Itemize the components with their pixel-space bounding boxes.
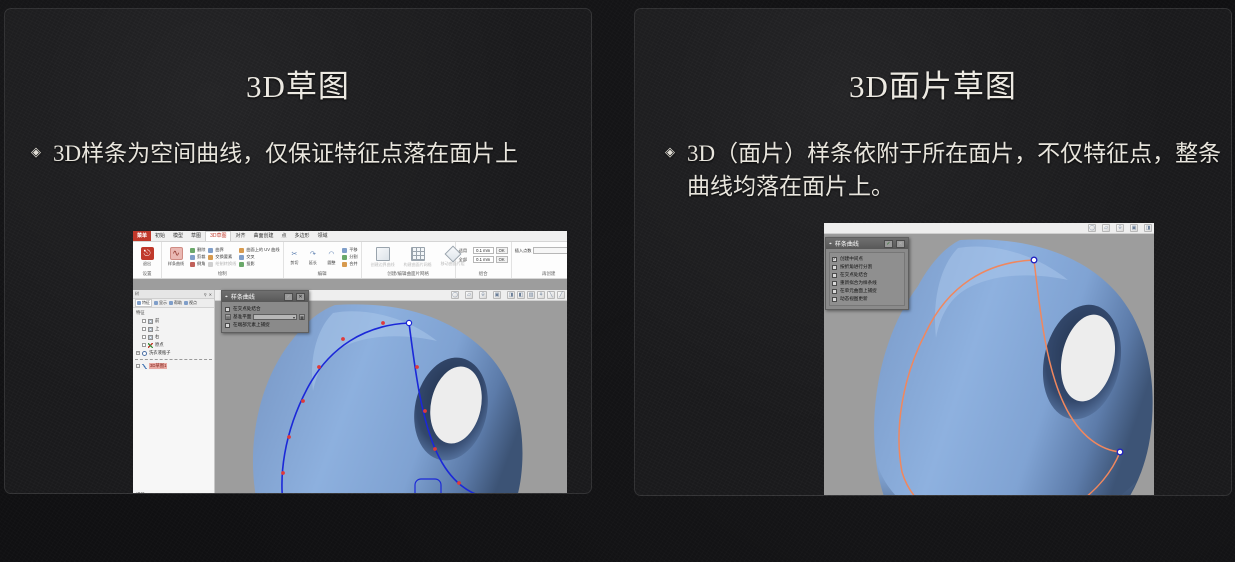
- tree-node-label: 洗衣液瓶子: [149, 350, 170, 356]
- spline-curve-button-label: 样条曲线: [168, 261, 184, 267]
- cut-icon: ✂: [288, 249, 300, 259]
- swap-icon: [208, 255, 213, 260]
- edit-merge-label: 合并: [349, 261, 357, 267]
- bullet-text-right: 3D（面片）样条依附于所在面片，不仅特征点，整条曲线均落在面片上。: [687, 137, 1225, 203]
- dialog-close-button-right[interactable]: ✕: [896, 240, 905, 248]
- exit-button[interactable]: ⎋ 退出: [136, 247, 158, 267]
- checkbox[interactable]: [832, 281, 837, 286]
- ribbon-group-label-draw: 绘制: [165, 270, 280, 278]
- display-icon: [154, 301, 158, 305]
- option-label: 在交点处结合: [840, 272, 868, 278]
- spline-endpoint-start[interactable]: [1031, 257, 1037, 263]
- option-snap-at-endpoint-left[interactable]: 在端部元素上捕捉: [225, 321, 305, 329]
- draw-fillet-button[interactable]: 倒角: [190, 261, 205, 267]
- ribbon: 菜单 初始 模型 草图 3D草图 对齐 曲面创建 点 多边形 领域: [133, 231, 567, 279]
- spline-dialog-titlebar-left[interactable]: ⌖ 样条曲线 ✓ ✕: [222, 291, 308, 302]
- draw-swap-label: 交换要素: [215, 254, 232, 260]
- spline-endpoint-end[interactable]: [1117, 449, 1123, 455]
- node-checkbox[interactable]: [142, 319, 146, 323]
- spline-dialog-body-left: 在交点处结合 ▤ 基准平面 ▾ ▦ 在端部元素上捕捉: [222, 302, 308, 332]
- tree-close-icon[interactable]: ✕: [209, 292, 212, 297]
- base-plane-select[interactable]: ▾: [253, 314, 297, 320]
- base-plane-extra-button[interactable]: ▦: [299, 314, 305, 320]
- exit-button-label: 退出: [143, 261, 151, 267]
- bullet-text-left: 3D样条为空间曲线，仅保证特征点落在面片上: [53, 137, 518, 170]
- spline-dialog-body-right: ✓ 创建中间点 按折角进行分割 在交点处结合: [826, 249, 908, 309]
- ribbon-tab-strip[interactable]: 菜单 初始 模型 草图 3D草图 对齐 曲面创建 点 多边形 领域: [133, 231, 567, 242]
- tree-tab-viewpoint-label: 视点: [189, 300, 197, 306]
- spline-icon: ∿: [170, 247, 183, 260]
- checkbox[interactable]: [832, 273, 837, 278]
- toolbar-separator: [489, 291, 491, 299]
- combine-apply-input[interactable]: 0.1 mm: [473, 247, 494, 254]
- ribbon-group-settings: ⎋ 退出 设置: [133, 242, 162, 278]
- tree-tab-strip[interactable]: 特征 显示 帮助 视点: [133, 299, 214, 308]
- ribbon-group-label-settings: 设置: [136, 270, 158, 278]
- insert-points-input[interactable]: 0: [533, 247, 567, 254]
- draw-trim-label: 剪裁: [197, 254, 205, 260]
- tree-tab-help-label: 帮助: [174, 300, 182, 306]
- draw-fillet-label: 倒角: [197, 261, 205, 267]
- project-icon: [239, 262, 244, 267]
- base-plane-picker-icon[interactable]: ▤: [225, 314, 231, 320]
- section-icon[interactable]: ◨: [507, 291, 515, 299]
- wire-icon[interactable]: ▥: [527, 291, 535, 299]
- page-title-right: 3D面片草图: [635, 61, 1231, 106]
- spline-dialog-left[interactable]: ⌖ 样条曲线 ✓ ✕ 在交点处结合 ▤ 基准平面 ▾ ▦: [221, 290, 309, 333]
- line-icon[interactable]: ╱: [557, 291, 565, 299]
- orbit-icon[interactable]: ◯: [451, 291, 459, 299]
- option-dynamic-view-update[interactable]: 动态视图更新: [832, 295, 902, 303]
- dialog-ok-button-right[interactable]: ✓: [884, 240, 893, 248]
- edit-cut-button[interactable]: ✂ 剪切: [287, 249, 303, 266]
- draw-convert-label: 绘制转换线: [215, 261, 236, 267]
- combine-apply-label: 适用: [459, 248, 471, 254]
- spline-endpoint-start[interactable]: [406, 320, 411, 325]
- app-screenshot-left: 菜单 初始 模型 草图 3D草图 对齐 曲面创建 点 多边形 领域: [133, 231, 567, 494]
- ribbon-tab-polygon[interactable]: 多边形: [291, 231, 314, 241]
- tree-tab-viewpoint[interactable]: 视点: [184, 300, 197, 306]
- tree-node-label: 上: [155, 326, 159, 332]
- spline-icon: [142, 364, 147, 369]
- edit-split-button[interactable]: 分割: [342, 254, 357, 260]
- page-title-left: 3D草图: [5, 61, 591, 106]
- ribbon-group-label-recreate: 再创建: [515, 270, 567, 278]
- edit-extend-button[interactable]: ↷ 延长: [305, 249, 321, 266]
- draw-mini-col-3: 曲面上的 UV 曲线 交叉 投影: [239, 247, 279, 267]
- checkbox[interactable]: [832, 265, 837, 270]
- plane-icon: [148, 335, 153, 340]
- option-label: 创建中间点: [840, 256, 863, 262]
- zoom-icon[interactable]: ⌾: [479, 291, 487, 299]
- spline-curve-button[interactable]: ∿ 样条曲线: [165, 247, 187, 267]
- extend-icon: ↷: [307, 249, 319, 259]
- spline-options-group: ✓ 创建中间点 按折角进行分割 在交点处结合: [829, 252, 905, 306]
- fillet-icon: [190, 262, 195, 267]
- ribbon-group-draw: ∿ 样条曲线 删除 剪裁 倒角 曲界 交换要素 绘制转换: [162, 242, 284, 278]
- edit-round-label: 圆整: [327, 260, 335, 266]
- spline-dialog-titlebar-right[interactable]: ⌖ 样条曲线 ✓ ✕: [826, 238, 908, 249]
- ribbon-tab-align[interactable]: 对齐: [231, 231, 249, 241]
- draw-mini-col-1: 删除 剪裁 倒角: [190, 247, 205, 267]
- circle-icon: [142, 351, 147, 356]
- tree-tab-feature-label: 特征: [142, 300, 150, 306]
- tree-divider: [135, 359, 212, 360]
- tree-node-label: 前: [155, 318, 159, 324]
- option-join-at-intersection-left[interactable]: 在交点处结合: [225, 305, 305, 313]
- node-expander[interactable]: +: [136, 351, 140, 355]
- recreate-insert-row: 插入点数 0 OK: [515, 247, 567, 254]
- draw-intersect-label: 交叉: [246, 254, 254, 260]
- base-plane-label: 基准平面: [233, 314, 251, 320]
- draw-project-button[interactable]: 投影: [239, 261, 279, 267]
- draw-intersect-button[interactable]: 交叉: [239, 254, 279, 260]
- tree-body-spacer: [133, 370, 214, 490]
- dialog-ok-button-left[interactable]: ✓: [284, 293, 293, 301]
- tree-bottom-section-label: 模型: [133, 490, 214, 494]
- orbit-icon[interactable]: ◯: [1088, 224, 1096, 232]
- tree-node-origin[interactable]: 原点: [133, 341, 214, 349]
- chevron-down-icon: ▾: [293, 315, 295, 320]
- dialog-close-button-left[interactable]: ✕: [296, 293, 305, 301]
- ribbon-tab-3dsketch[interactable]: 3D草图: [205, 231, 231, 241]
- draw-boundary-button[interactable]: 曲界: [208, 247, 236, 253]
- checkbox[interactable]: [225, 307, 230, 312]
- point-icon[interactable]: ╲: [547, 291, 555, 299]
- tree-tab-help[interactable]: 帮助: [169, 300, 182, 306]
- dialog-pin-icon[interactable]: ⌖: [225, 294, 228, 300]
- delete-icon: [190, 248, 195, 253]
- create-boundary-curve-label: 创建边界曲线: [371, 262, 395, 268]
- tree-node-label: 右: [155, 334, 159, 340]
- bullet-right: ◈ 3D（面片）样条依附于所在面片，不仅特征点，整条曲线均落在面片上。: [665, 137, 1225, 203]
- toolbar-separator: [1126, 224, 1128, 232]
- tree-top-section-label: 特征: [133, 308, 214, 317]
- draw-mini-col-2: 曲界 交换要素 绘制转换线: [208, 247, 236, 267]
- boundary-icon: [208, 248, 213, 253]
- toolbar-separator: [461, 291, 463, 299]
- pan-icon[interactable]: ▱: [465, 291, 473, 299]
- zoom-icon[interactable]: ⌾: [1116, 224, 1124, 232]
- view-toolbar-right[interactable]: ◯ ▱ ⌾ ▣ ◨: [824, 223, 1154, 234]
- option-label: 重新拟合为样条线: [840, 280, 877, 286]
- node-expander[interactable]: -: [136, 364, 140, 368]
- slide-card-left: 3D草图 ◈ 3D样条为空间曲线，仅保证特征点落在面片上 菜单 初始 模型 草图…: [4, 8, 592, 494]
- bullet-left: ◈ 3D样条为空间曲线，仅保证特征点落在面片上: [31, 137, 579, 170]
- node-checkbox[interactable]: [142, 343, 146, 347]
- toolbar-separator: [503, 291, 505, 299]
- toolbar-separator: [475, 291, 477, 299]
- edit-mini-col: 平移 分割 合并: [342, 247, 357, 267]
- spline-dialog-right[interactable]: ⌖ 样条曲线 ✓ ✕ ✓ 创建中间点 按折角进行分割: [825, 237, 909, 310]
- option-join-at-intersection[interactable]: 在交点处结合: [832, 271, 902, 279]
- tree-tab-display[interactable]: 显示: [154, 300, 167, 306]
- combine-apply-ok-button[interactable]: OK: [496, 247, 508, 254]
- ribbon-tab-menu[interactable]: 菜单: [133, 231, 151, 241]
- draw-project-label: 投影: [246, 261, 254, 267]
- tree-panel-title: 树: [135, 291, 139, 297]
- edit-merge-button[interactable]: 合并: [342, 261, 357, 267]
- option-label: 按折角进行分割: [840, 264, 872, 270]
- tree-node-right[interactable]: 右: [133, 333, 214, 341]
- tree-node-label: 3D草图1: [149, 363, 167, 369]
- round-icon: ◠: [325, 249, 337, 259]
- ribbon-group-patch: 创建边界曲线 构建曲面片网格 移动曲面片组 创建/编辑曲面片网格: [362, 242, 456, 278]
- combine-all-ok-button[interactable]: OK: [496, 256, 508, 263]
- tree-node-top[interactable]: 上: [133, 325, 214, 333]
- ribbon-tab-point[interactable]: 点: [278, 231, 291, 241]
- edit-translate-label: 平移: [349, 247, 357, 253]
- merge-icon: [342, 262, 347, 267]
- ribbon-body: ⎋ 退出 设置 ∿ 样条曲线: [133, 242, 567, 279]
- tree-node-3dsketch1[interactable]: -3D草图1: [133, 362, 214, 370]
- ribbon-group-combine: 适用 0.1 mm OK 全部 0.1 mm OK 组合: [456, 242, 512, 278]
- bullet-marker-icon: ◈: [31, 137, 41, 167]
- draw-swap-button[interactable]: 交换要素: [208, 254, 236, 260]
- slide-card-right: 3D面片草图 ◈ 3D（面片）样条依附于所在面片，不仅特征点，整条曲线均落在面片…: [634, 8, 1232, 496]
- section-icon[interactable]: ◨: [1144, 224, 1152, 232]
- ribbon-tab-sketch[interactable]: 草图: [187, 231, 205, 241]
- measure-icon[interactable]: ⚘: [537, 291, 545, 299]
- node-checkbox[interactable]: [142, 327, 146, 331]
- draw-boundary-label: 曲界: [215, 247, 223, 253]
- ribbon-group-recreate: 插入点数 0 OK 再创建: [512, 242, 567, 278]
- option-label: 在交点处结合: [233, 306, 261, 312]
- option-create-midpoints[interactable]: ✓ 创建中间点: [832, 255, 902, 263]
- combine-all-input[interactable]: 0.1 mm: [473, 256, 494, 263]
- axis-icon: [148, 343, 153, 348]
- tree-tab-feature[interactable]: 特征: [135, 299, 152, 307]
- checkbox-checked[interactable]: ✓: [832, 257, 837, 262]
- ribbon-tab-surface[interactable]: 曲面创建: [249, 231, 277, 241]
- checkbox[interactable]: [225, 323, 230, 328]
- exit-icon: ⎋: [141, 247, 154, 260]
- ribbon-tab-region[interactable]: 领域: [314, 231, 332, 241]
- build-patch-network-button[interactable]: 构建曲面片网格: [405, 247, 431, 268]
- edit-round-button[interactable]: ◠ 圆整: [324, 249, 340, 266]
- dialog-pin-icon[interactable]: ⌖: [829, 241, 832, 247]
- patch-network-icon: [411, 247, 425, 261]
- edit-split-label: 分割: [349, 254, 357, 260]
- translate-icon: [342, 248, 347, 253]
- toolbar-separator: [1140, 224, 1142, 232]
- tree-panel-header: 树 ⚲ ✕: [133, 290, 214, 299]
- fit-icon[interactable]: ▣: [1130, 224, 1138, 232]
- boundary-curve-icon: [376, 247, 390, 261]
- tree-tab-display-label: 显示: [159, 300, 167, 306]
- help-icon: [169, 301, 173, 305]
- pan-icon[interactable]: ▱: [1102, 224, 1110, 232]
- fit-icon[interactable]: ▣: [493, 291, 501, 299]
- ribbon-group-edit: ✂ 剪切 ↷ 延长 ◠ 圆整: [284, 242, 362, 278]
- convert-icon: [208, 262, 213, 267]
- ribbon-tab-initial[interactable]: 初始: [151, 231, 169, 241]
- option-refit-as-spline[interactable]: 重新拟合为样条线: [832, 279, 902, 287]
- plane-icon: [148, 319, 153, 324]
- option-label: 在单元曲面上捕捉: [840, 288, 877, 294]
- draw-uv-curve-button[interactable]: 曲面上的 UV 曲线: [239, 247, 279, 253]
- draw-uv-curve-label: 曲面上的 UV 曲线: [246, 247, 279, 253]
- spline-dialog-title-right: 样条曲线: [835, 239, 859, 248]
- shade-icon[interactable]: ◧: [517, 291, 525, 299]
- edit-extend-label: 延长: [309, 260, 317, 266]
- tree-top-nodes: 前 上 右 原点 +洗衣液瓶子 -3D草图1: [133, 317, 214, 370]
- ribbon-tab-model[interactable]: 模型: [169, 231, 187, 241]
- tree-node-bottle[interactable]: +洗衣液瓶子: [133, 349, 214, 357]
- combine-all-row: 全部 0.1 mm OK: [459, 256, 508, 263]
- tree-node-label: 原点: [155, 342, 164, 348]
- option-label: 动态视图更新: [840, 296, 868, 302]
- uv-curve-icon: [239, 248, 244, 253]
- insert-points-label: 插入点数: [515, 248, 532, 254]
- ribbon-group-label-patch: 创建/编辑曲面片网格: [365, 270, 452, 278]
- checkbox[interactable]: [832, 297, 837, 302]
- feature-icon: [137, 301, 141, 305]
- plane-icon: [148, 327, 153, 332]
- combine-apply-row: 适用 0.1 mm OK: [459, 247, 508, 254]
- split-icon: [342, 255, 347, 260]
- draw-delete-label: 删除: [197, 247, 205, 253]
- ribbon-group-label-edit: 编辑: [287, 270, 358, 278]
- tree-node-front[interactable]: 前: [133, 317, 214, 325]
- app-screenshot-right: ◯ ▱ ⌾ ▣ ◨: [824, 223, 1154, 496]
- create-boundary-curve-button[interactable]: 创建边界曲线: [371, 247, 395, 268]
- edit-cut-label: 剪切: [290, 260, 298, 266]
- edit-translate-button[interactable]: 平移: [342, 247, 357, 253]
- checkbox[interactable]: [832, 289, 837, 294]
- option-label: 在端部元素上捕捉: [233, 322, 270, 328]
- build-patch-network-label: 构建曲面片网格: [404, 262, 432, 268]
- node-checkbox[interactable]: [142, 335, 146, 339]
- ribbon-group-label-combine: 组合: [459, 270, 508, 278]
- tree-pin-icon[interactable]: ⚲: [204, 292, 207, 297]
- spline-dialog-title-left: 样条曲线: [231, 292, 255, 301]
- combine-all-label: 全部: [459, 257, 471, 263]
- toolbar-separator: [1098, 224, 1100, 232]
- draw-convert-button[interactable]: 绘制转换线: [208, 261, 236, 267]
- option-split-by-angle[interactable]: 按折角进行分割: [832, 263, 902, 271]
- draw-delete-button[interactable]: 删除: [190, 247, 205, 253]
- base-plane-row[interactable]: ▤ 基准平面 ▾ ▦: [225, 313, 305, 321]
- trim-icon: [190, 255, 195, 260]
- model-tree-panel[interactable]: 树 ⚲ ✕ 特征 显示 帮助 视点 特征 前 上 右 原: [133, 290, 215, 494]
- toolbar-separator: [1112, 224, 1114, 232]
- slide-canvas: 3D草图 ◈ 3D样条为空间曲线，仅保证特征点落在面片上 菜单 初始 模型 草图…: [0, 0, 1235, 562]
- option-snap-on-cell-surface[interactable]: 在单元曲面上捕捉: [832, 287, 902, 295]
- draw-trim-button[interactable]: 剪裁: [190, 254, 205, 260]
- bullet-marker-icon: ◈: [665, 137, 675, 167]
- intersect-icon: [239, 255, 244, 260]
- viewpoint-icon: [184, 301, 188, 305]
